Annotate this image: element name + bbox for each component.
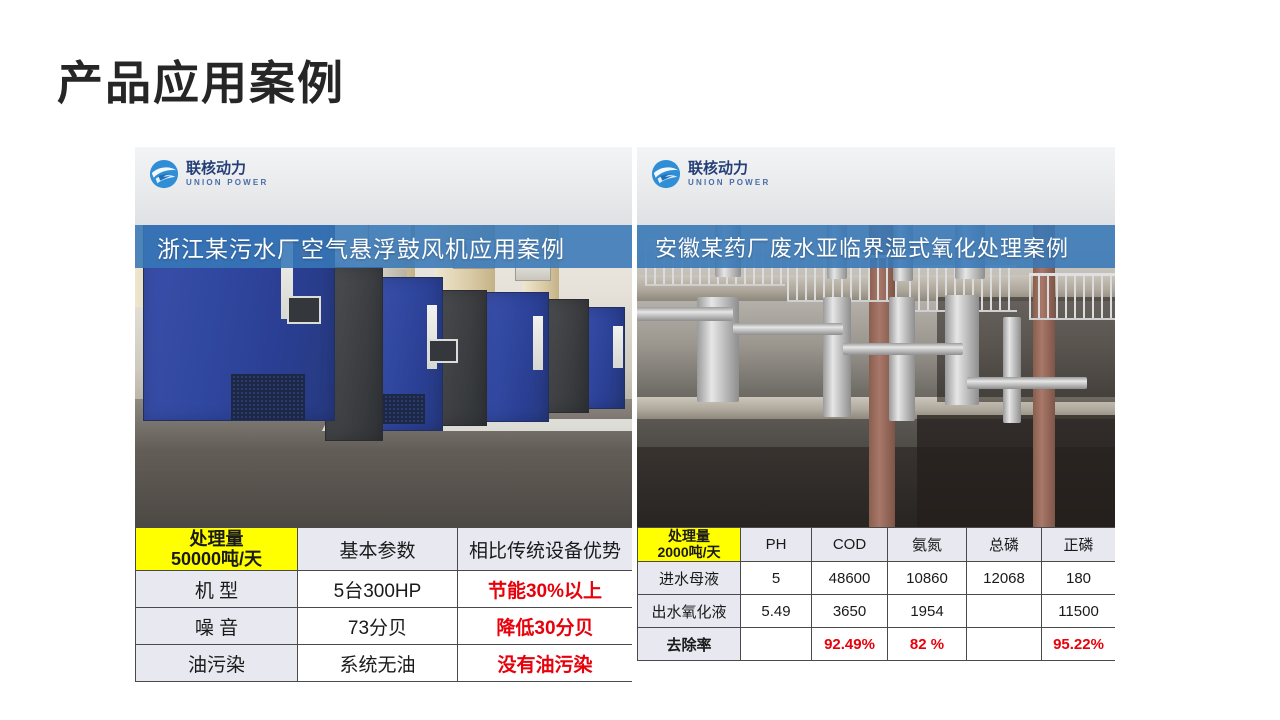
case-banner-left: 浙江某污水厂空气悬浮鼓风机应用案例 [135, 225, 632, 268]
cell-ammonia: 1954 [888, 595, 967, 628]
brand-logo-right: 联核动力 UNION POWER [651, 159, 770, 189]
display-screen [287, 296, 321, 324]
cell-total-p [967, 628, 1042, 661]
cell-ortho-p: 11500 [1042, 595, 1116, 628]
brand-name-en: UNION POWER [186, 179, 268, 187]
row-advantage: 节能30%以上 [458, 571, 633, 608]
cooling-vent [379, 394, 425, 424]
col-header-basic-params: 基本参数 [298, 528, 458, 571]
table-row: 油污染 系统无油 没有油污染 [136, 645, 633, 682]
process-pipe [823, 297, 851, 417]
cell-ph: 5.49 [741, 595, 812, 628]
cell-ammonia: 10860 [888, 562, 967, 595]
row-label: 机 型 [136, 571, 298, 608]
throughput-label: 处理量 [638, 529, 740, 545]
throughput-header-cell: 处理量 50000吨/天 [136, 528, 298, 571]
safety-railing [1029, 273, 1115, 320]
table-row: 出水氧化液 5.49 3650 1954 11500 [638, 595, 1116, 628]
spec-table-left: 处理量 50000吨/天 基本参数 相比传统设备优势 机 型 5台300HP 节… [135, 527, 632, 682]
row-label: 进水母液 [638, 562, 741, 595]
display-screen [428, 339, 458, 363]
table-header-row: 处理量 50000吨/天 基本参数 相比传统设备优势 [136, 528, 633, 571]
process-pipe [733, 323, 843, 335]
cell-total-p [967, 595, 1042, 628]
throughput-value: 2000吨/天 [638, 545, 740, 561]
table-row-removal-rate: 去除率 92.49% 82 % 95.22% [638, 628, 1116, 661]
case-banner-title-left: 浙江某污水厂空气悬浮鼓风机应用案例 [135, 230, 565, 264]
table-row: 机 型 5台300HP 节能30%以上 [136, 571, 633, 608]
brand-name-cn: 联核动力 [688, 161, 770, 176]
control-strip [533, 316, 543, 370]
control-strip [613, 326, 623, 368]
case-photo-right: 联核动力 UNION POWER 安徽某药厂废水亚临界湿式氧化处理案例 [637, 147, 1115, 527]
cooling-vent [231, 374, 305, 420]
process-pipe [889, 297, 915, 421]
throughput-label: 处理量 [136, 529, 297, 549]
cell-ortho-p: 95.22% [1042, 628, 1116, 661]
table-header-row: 处理量 2000吨/天 PH COD 氨氮 总磷 正磷 [638, 528, 1116, 562]
row-advantage: 降低30分贝 [458, 608, 633, 645]
cell-total-p: 12068 [967, 562, 1042, 595]
cell-cod: 48600 [812, 562, 888, 595]
row-value: 5台300HP [298, 571, 458, 608]
cell-ph [741, 628, 812, 661]
brand-text: 联核动力 UNION POWER [186, 161, 268, 187]
union-power-swoosh-icon [651, 159, 681, 189]
col-header-cod: COD [812, 528, 888, 562]
spec-table-right: 处理量 2000吨/天 PH COD 氨氮 总磷 正磷 进水母液 5 48600… [637, 527, 1115, 661]
process-pipe [637, 307, 733, 321]
throughput-header-cell: 处理量 2000吨/天 [638, 528, 741, 562]
row-advantage: 没有油污染 [458, 645, 633, 682]
brand-logo-left: 联核动力 UNION POWER [149, 159, 268, 189]
row-label: 噪 音 [136, 608, 298, 645]
case-photo-left: 联核动力 UNION POWER 浙江某污水厂空气悬浮鼓风机应用案例 [135, 147, 632, 527]
throughput-value: 50000吨/天 [136, 549, 297, 569]
blower-unit [481, 292, 549, 422]
process-pipe [843, 343, 963, 355]
col-header-advantage: 相比传统设备优势 [458, 528, 633, 571]
cell-cod: 92.49% [812, 628, 888, 661]
cell-ammonia: 82 % [888, 628, 967, 661]
brand-name-cn: 联核动力 [186, 161, 268, 176]
row-label: 出水氧化液 [638, 595, 741, 628]
case-card-left: 联核动力 UNION POWER 浙江某污水厂空气悬浮鼓风机应用案例 处理量 5… [135, 147, 632, 682]
union-power-swoosh-icon [149, 159, 179, 189]
col-header-ortho-p: 正磷 [1042, 528, 1116, 562]
brand-text: 联核动力 UNION POWER [688, 161, 770, 187]
col-header-ph: PH [741, 528, 812, 562]
row-value: 系统无油 [298, 645, 458, 682]
col-header-total-p: 总磷 [967, 528, 1042, 562]
col-header-ammonia: 氨氮 [888, 528, 967, 562]
table-row: 进水母液 5 48600 10860 12068 180 [638, 562, 1116, 595]
row-label: 去除率 [638, 628, 741, 661]
row-label: 油污染 [136, 645, 298, 682]
cell-ph: 5 [741, 562, 812, 595]
case-card-right: 联核动力 UNION POWER 安徽某药厂废水亚临界湿式氧化处理案例 处理量 … [637, 147, 1115, 661]
cell-cod: 3650 [812, 595, 888, 628]
page-title: 产品应用案例 [57, 58, 345, 109]
table-row: 噪 音 73分贝 降低30分贝 [136, 608, 633, 645]
process-pipe [967, 377, 1087, 389]
case-banner-right: 安徽某药厂废水亚临界湿式氧化处理案例 [637, 225, 1115, 268]
process-pipe [1003, 317, 1021, 423]
cell-ortho-p: 180 [1042, 562, 1116, 595]
brand-name-en: UNION POWER [688, 179, 770, 187]
row-value: 73分贝 [298, 608, 458, 645]
case-banner-title-right: 安徽某药厂废水亚临界湿式氧化处理案例 [637, 231, 1069, 263]
